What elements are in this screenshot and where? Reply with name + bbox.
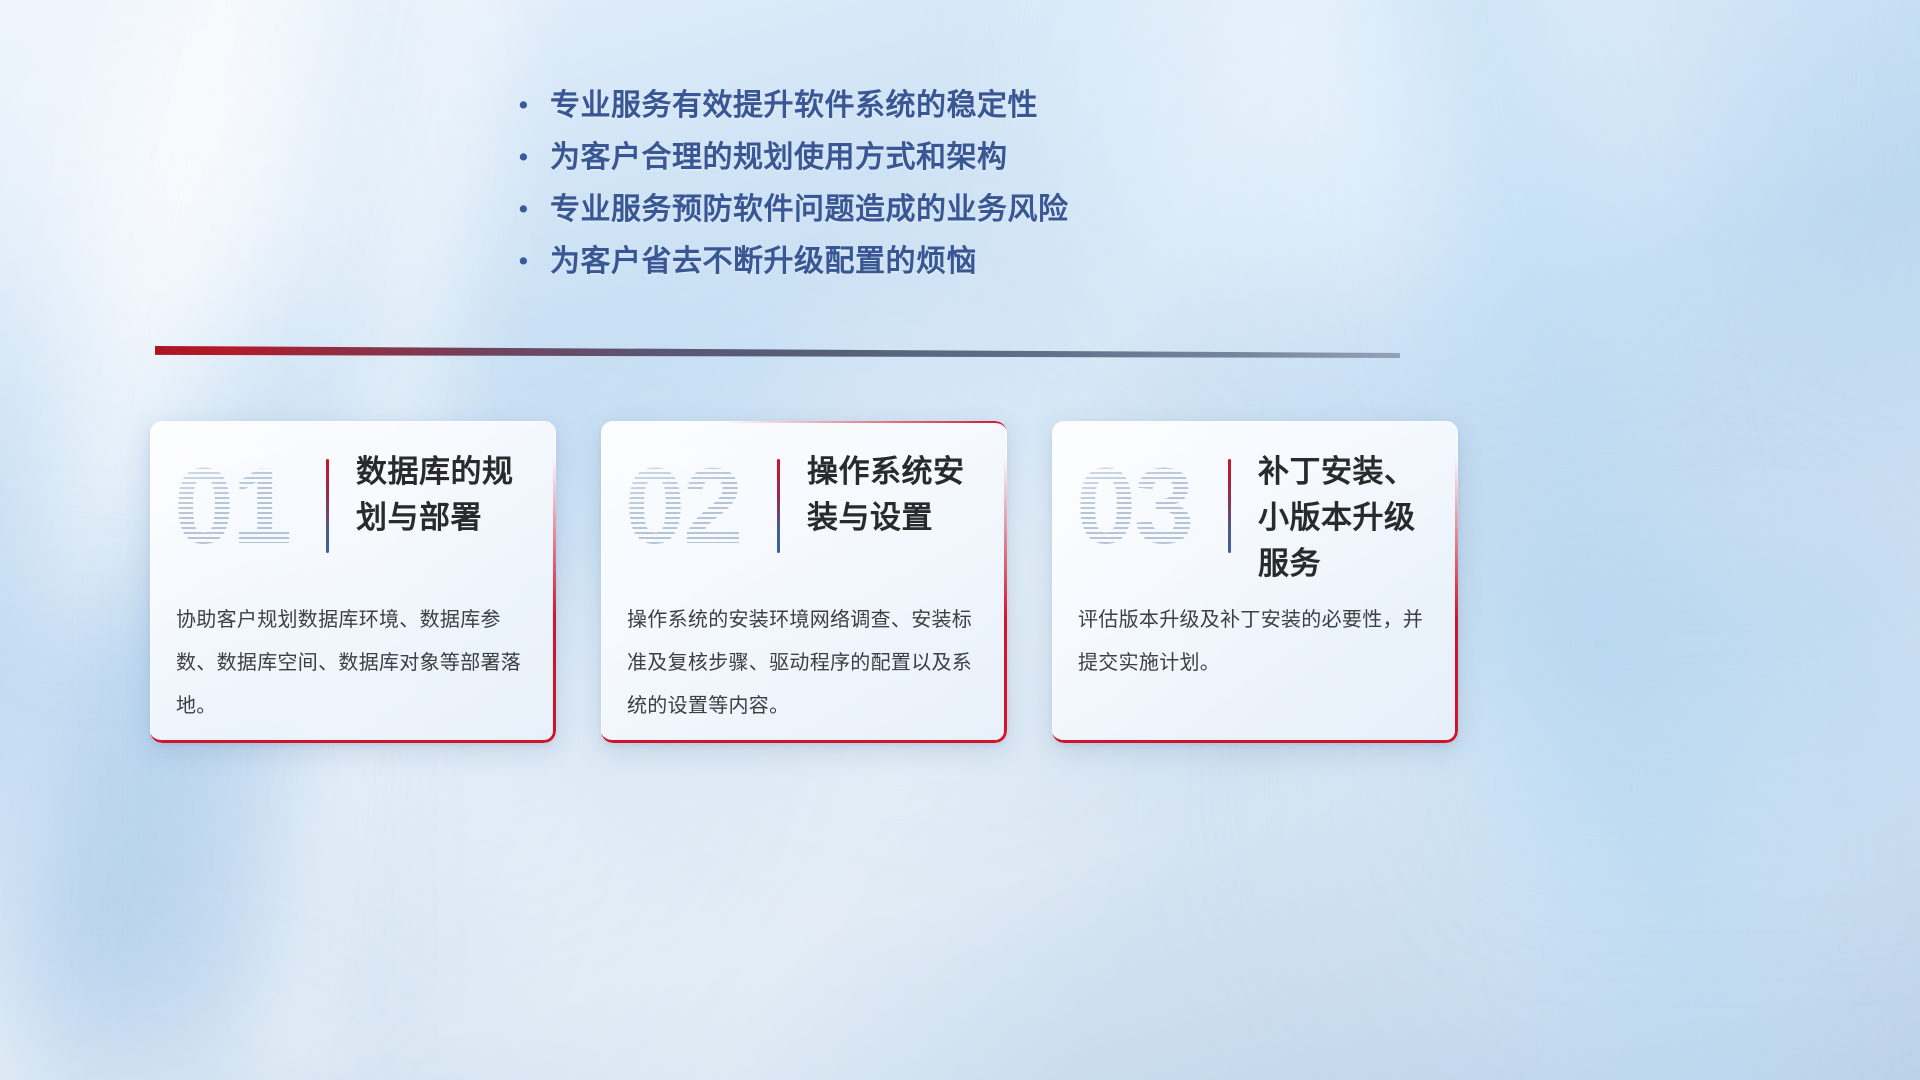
list-item: • 为客户合理的规划使用方式和架构 bbox=[516, 138, 1416, 190]
list-item: • 专业服务预防软件问题造成的业务风险 bbox=[516, 190, 1416, 242]
card-number-watermark: 01 bbox=[174, 447, 310, 565]
card-body-text: 操作系统的安装环境网络调查、安装标准及复核步骤、驱动程序的配置以及系统的设置等内… bbox=[627, 599, 985, 728]
section-divider bbox=[155, 346, 1400, 358]
card-body-text: 协助客户规划数据库环境、数据库参数、数据库空间、数据库对象等部署落地。 bbox=[176, 599, 534, 728]
card-accent-bar bbox=[777, 459, 780, 553]
bullet-text: 专业服务预防软件问题造成的业务风险 bbox=[550, 190, 1069, 230]
bullet-text: 专业服务有效提升软件系统的稳定性 bbox=[550, 86, 1038, 126]
background-streak-4 bbox=[1480, 560, 1920, 920]
card-header: 02 操作系统安装与设置 bbox=[601, 421, 1007, 589]
card-accent-bar bbox=[326, 459, 329, 553]
service-card-01[interactable]: 01 数据库的规划与部署 协助客户规划数据库环境、数据库参数、数据库空间、数据库… bbox=[150, 421, 556, 743]
card-number-watermark: 03 bbox=[1076, 447, 1212, 565]
card-title: 补丁安装、小版本升级服务 bbox=[1258, 449, 1446, 587]
card-title: 操作系统安装与设置 bbox=[807, 449, 995, 541]
bullet-dot-icon: • bbox=[516, 190, 550, 230]
list-item: • 为客户省去不断升级配置的烦恼 bbox=[516, 242, 1416, 294]
card-title: 数据库的规划与部署 bbox=[356, 449, 544, 541]
card-body-text: 评估版本升级及补丁安装的必要性，并提交实施计划。 bbox=[1078, 599, 1436, 685]
service-card-03[interactable]: 03 补丁安装、小版本升级服务 评估版本升级及补丁安装的必要性，并提交实施计划。 bbox=[1052, 421, 1458, 743]
bullet-dot-icon: • bbox=[516, 86, 550, 126]
divider-gradient-bar bbox=[155, 346, 1400, 358]
benefits-bullet-list: • 专业服务有效提升软件系统的稳定性 • 为客户合理的规划使用方式和架构 • 专… bbox=[516, 86, 1416, 294]
card-header: 03 补丁安装、小版本升级服务 bbox=[1052, 421, 1458, 589]
bullet-text: 为客户合理的规划使用方式和架构 bbox=[550, 138, 1008, 178]
service-card-list: 01 数据库的规划与部署 协助客户规划数据库环境、数据库参数、数据库空间、数据库… bbox=[150, 421, 1458, 743]
card-header: 01 数据库的规划与部署 bbox=[150, 421, 556, 589]
card-accent-bar bbox=[1228, 459, 1231, 553]
background-glow-top-left bbox=[0, 0, 540, 440]
service-card-02[interactable]: 02 操作系统安装与设置 操作系统的安装环境网络调查、安装标准及复核步骤、驱动程… bbox=[601, 421, 1007, 743]
bullet-dot-icon: • bbox=[516, 138, 550, 178]
bullet-text: 为客户省去不断升级配置的烦恼 bbox=[550, 242, 977, 282]
list-item: • 专业服务有效提升软件系统的稳定性 bbox=[516, 86, 1416, 138]
card-number-watermark: 02 bbox=[625, 447, 761, 565]
bullet-dot-icon: • bbox=[516, 242, 550, 282]
